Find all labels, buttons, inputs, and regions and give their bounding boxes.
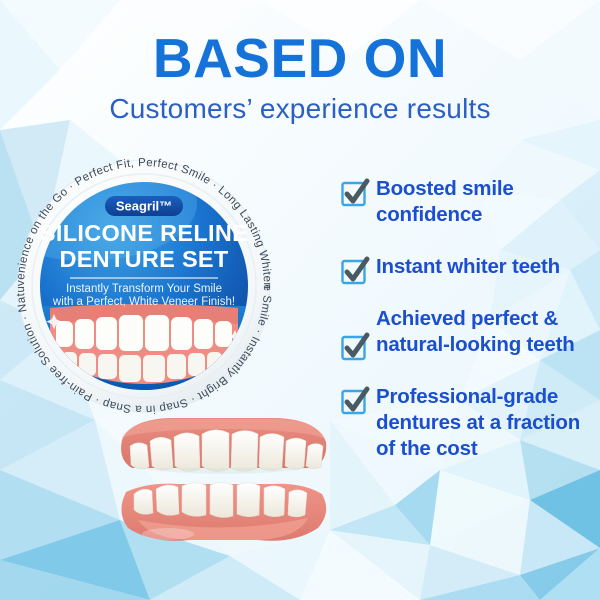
checklist-item-3-label: Achieved perfect & natural-looking teeth [376,306,598,358]
checklist-item-2[interactable]: Instant whiter teeth [340,254,598,280]
checklist-item-1-label: Boosted smile confidence [376,176,598,228]
brand-name: Seagril™ [116,199,172,214]
checkbox-checked-icon[interactable] [340,256,370,286]
product-tagline-line2: with a Perfect, White Veneer Finish! [52,296,235,308]
denture-veneers-image [108,412,338,564]
checklist-item-2-label: Instant whiter teeth [376,254,598,280]
checkbox-checked-icon[interactable] [340,386,370,416]
advertisement-canvas: BASED ON Customers’ experience results [0,0,600,600]
benefits-checklist: Boosted smile confidence Instant whiter … [340,176,598,484]
checklist-item-3[interactable]: Achieved perfect & natural-looking teeth [340,306,598,358]
lower-denture-veneer [121,483,326,541]
headline-block: BASED ON Customers’ experience results [0,28,600,126]
product-tagline-line1: Instantly Transform Your Smile [66,283,222,295]
page-title: BASED ON [0,28,600,88]
brand-pill: Seagril™ [105,196,183,216]
checkbox-checked-icon[interactable] [340,178,370,208]
upper-denture-veneer [121,418,326,474]
checkbox-checked-icon[interactable] [340,332,370,362]
page-subtitle: Customers’ experience results [0,92,600,126]
checklist-item-4[interactable]: Professional-grade dentures at a fractio… [340,384,598,462]
product-container-image: Convenience on the Go · Perfect Fit, Per… [0,158,312,416]
checklist-item-1[interactable]: Boosted smile confidence [340,176,598,228]
checklist-item-4-label: Professional-grade dentures at a fractio… [376,384,598,462]
product-title-line2: DENTURE SET [59,246,228,272]
product-title-line1: SILICONE RELINE [40,220,248,246]
